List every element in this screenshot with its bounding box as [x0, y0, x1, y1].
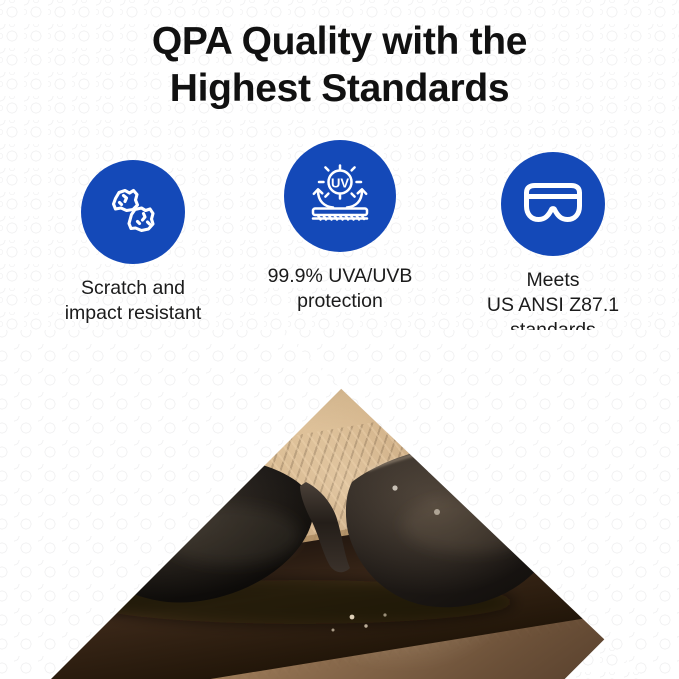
- bench-grit-3: [332, 629, 335, 632]
- feature-item-uv-protection: UV 99.9% UVA/UVB protection: [240, 140, 440, 314]
- feature-item-ansi-standards: Meets US ANSI Z87.1 standards: [438, 152, 668, 343]
- feature-caption-2-line-1: 99.9% UVA/UVB: [240, 264, 440, 289]
- glasses-specular-2: [392, 485, 397, 490]
- bench-grit-2: [364, 624, 367, 627]
- bench-grit-1: [350, 615, 355, 620]
- feature-list: Scratch and impact resistant polycarbona…: [0, 140, 679, 360]
- feature-caption-2: 99.9% UVA/UVB protection: [240, 264, 440, 314]
- feature-badge-2: UV: [284, 140, 396, 252]
- product-photo: [0, 330, 679, 679]
- product-infographic: QPA Quality with the Highest Standards: [0, 0, 679, 679]
- feature-caption-3-line-1: Meets: [438, 268, 668, 293]
- uv-icon-label: UV: [331, 176, 349, 191]
- scratch-impact-rocks-icon: [102, 181, 164, 243]
- infographic-content: QPA Quality with the Highest Standards: [0, 0, 679, 679]
- feature-caption-2-line-2: protection: [240, 289, 440, 314]
- page-title-line-1: QPA Quality with the: [0, 18, 679, 65]
- feature-item-scratch-resistance: Scratch and impact resistant polycarbona…: [18, 160, 248, 351]
- feature-badge-3: [501, 152, 605, 256]
- feature-badge-1: [81, 160, 185, 264]
- product-photo-canvas: [0, 330, 679, 679]
- bench-grit-4: [383, 613, 386, 616]
- page-title: QPA Quality with the Highest Standards: [0, 18, 679, 112]
- safety-goggles-icon: [516, 176, 590, 232]
- page-title-line-2: Highest Standards: [0, 65, 679, 112]
- uv-protection-sun-icon: UV: [304, 160, 376, 232]
- feature-caption-1-line-2: impact resistant: [18, 301, 248, 326]
- feature-caption-3-line-2: US ANSI Z87.1: [438, 293, 668, 318]
- feature-caption-1-line-1: Scratch and: [18, 276, 248, 301]
